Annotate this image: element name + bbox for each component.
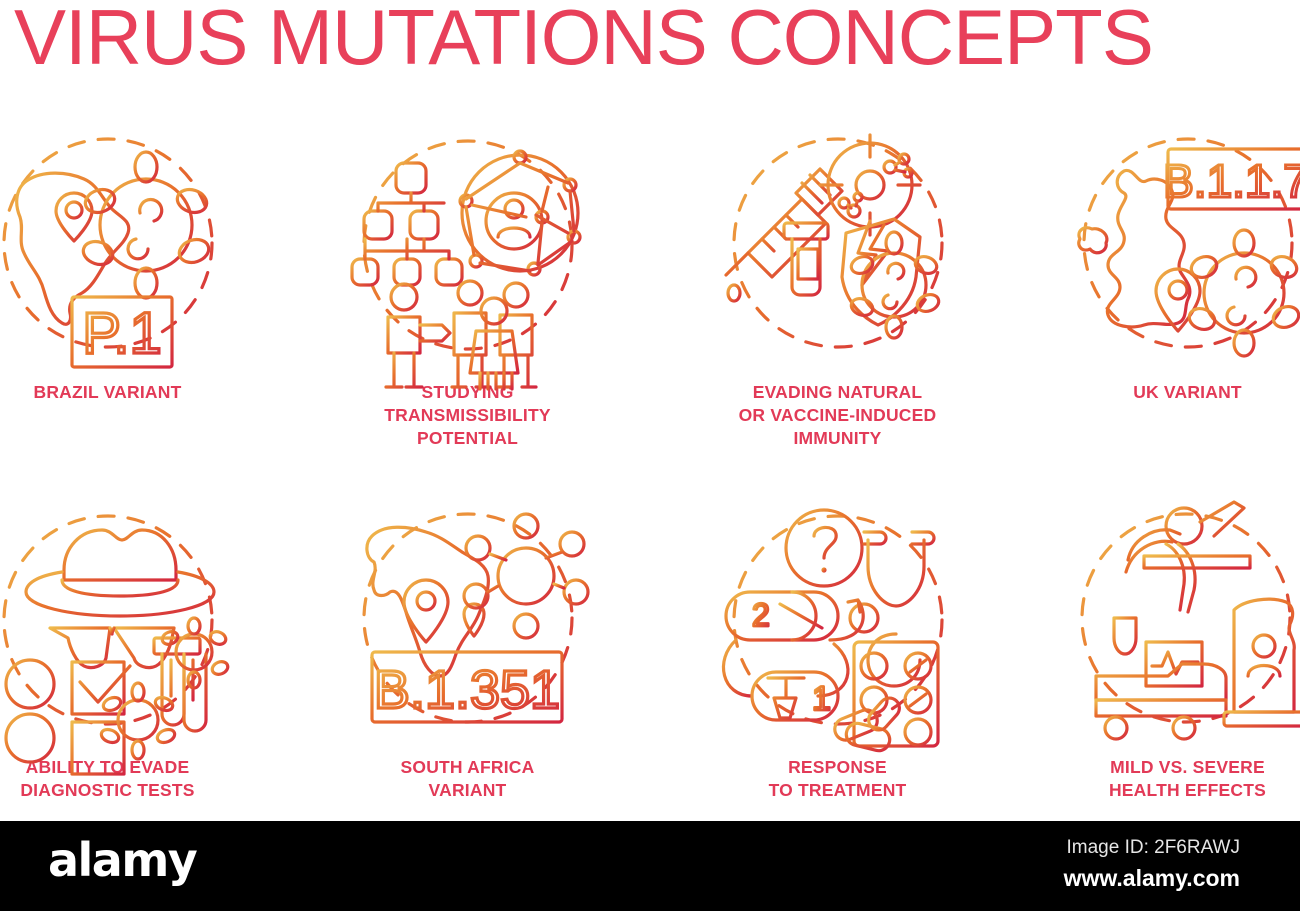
concept-card-brazil-variant[interactable]: P.1 BRAZIL VARIANT — [0, 125, 270, 500]
icon-row-bottom: ABILITY TO EVADE DIAGNOSTIC TESTS — [0, 500, 1300, 875]
caption-line: TO TREATMENT — [688, 779, 988, 802]
concept-card-evading-natural-or-vaccine-induced-immunity[interactable]: EVADING NATURAL OR VACCINE-INDUCED IMMUN… — [675, 125, 1000, 500]
image-id-label: Image ID: 2F6RAWJ — [1066, 837, 1240, 859]
concept-caption: BRAZIL VARIANT — [0, 381, 258, 404]
caption-line: POTENTIAL — [318, 427, 618, 450]
concept-caption: ABILITY TO EVADE DIAGNOSTIC TESTS — [0, 756, 258, 802]
caption-line: OR VACCINE-INDUCED — [688, 404, 988, 427]
concept-caption: SOUTH AFRICA VARIANT — [318, 756, 618, 802]
caption-line: RESPONSE — [688, 756, 988, 779]
variant-badge-text: B.1.1.7 — [1163, 155, 1300, 207]
icon-row-top: P.1 BRAZIL VARIANT — [0, 125, 1300, 500]
sick-person-hospital-bed-gravestone-icon — [1068, 500, 1300, 750]
svg-text:1: 1 — [812, 680, 831, 718]
alamy-url: www.alamy.com — [1064, 865, 1240, 892]
caption-line: MILD VS. SEVERE — [1038, 756, 1300, 779]
concept-caption: UK VARIANT — [1038, 381, 1300, 404]
pills-stethoscope-iv-drip-icon: 2 1 — [718, 500, 958, 750]
caption-line: VARIANT — [318, 779, 618, 802]
concept-caption: EVADING NATURAL OR VACCINE-INDUCED IMMUN… — [688, 381, 988, 450]
caption-line: BRAZIL VARIANT — [0, 381, 258, 404]
caption-line: IMMUNITY — [688, 427, 988, 450]
transmission-tree-network-people-icon — [348, 125, 588, 375]
brazil-map-virus-p1-icon: P.1 — [0, 125, 228, 375]
concept-caption: MILD VS. SEVERE HEALTH EFFECTS — [1038, 756, 1300, 802]
icon-grid: P.1 BRAZIL VARIANT — [0, 125, 1300, 875]
caption-line: SOUTH AFRICA — [318, 756, 618, 779]
concept-card-uk-variant[interactable]: B.1.1.7 UK VARIANT — [1025, 125, 1300, 500]
caption-line: STUDYING — [318, 381, 618, 404]
concept-card-south-africa-variant[interactable]: B.1.351 SOUTH AFRICA VARIANT — [305, 500, 630, 875]
concept-card-mild-vs-severe-health-effects[interactable]: MILD VS. SEVERE HEALTH EFFECTS — [1025, 500, 1300, 875]
caption-line: DIAGNOSTIC TESTS — [0, 779, 258, 802]
page-title: VIRUS MUTATIONS CONCEPTS — [14, 0, 1294, 81]
caption-line: HEALTH EFFECTS — [1038, 779, 1300, 802]
watermark-bar: alamy Image ID: 2F6RAWJ www.alamy.com — [0, 821, 1300, 911]
poster-canvas: VIRUS MUTATIONS CONCEPTS — [0, 0, 1300, 911]
africa-map-virus-b1351-icon: B.1.351 — [348, 500, 588, 750]
svg-text:2: 2 — [752, 597, 770, 633]
caption-line: EVADING NATURAL — [688, 381, 988, 404]
caption-line: TRANSMISSIBILITY — [318, 404, 618, 427]
concept-caption: STUDYING TRANSMISSIBILITY POTENTIAL — [318, 381, 618, 450]
alamy-logo: alamy — [48, 837, 196, 883]
uk-map-virus-b117-icon: B.1.1.7 — [1068, 125, 1300, 375]
concept-caption: RESPONSE TO TREATMENT — [688, 756, 988, 802]
variant-badge-text: P.1 — [82, 301, 162, 366]
concept-card-response-to-treatment[interactable]: 2 1 — [675, 500, 1000, 875]
concept-card-studying-transmissibility-potential[interactable]: STUDYING TRANSMISSIBILITY POTENTIAL — [305, 125, 630, 500]
caption-line: UK VARIANT — [1038, 381, 1300, 404]
disguise-hat-glasses-test-tube-icon — [0, 500, 228, 750]
syringe-vial-target-shield-virus-icon — [718, 125, 958, 375]
concept-card-ability-to-evade-diagnostic-tests[interactable]: ABILITY TO EVADE DIAGNOSTIC TESTS — [0, 500, 270, 875]
variant-badge-text: B.1.351 — [373, 660, 559, 720]
